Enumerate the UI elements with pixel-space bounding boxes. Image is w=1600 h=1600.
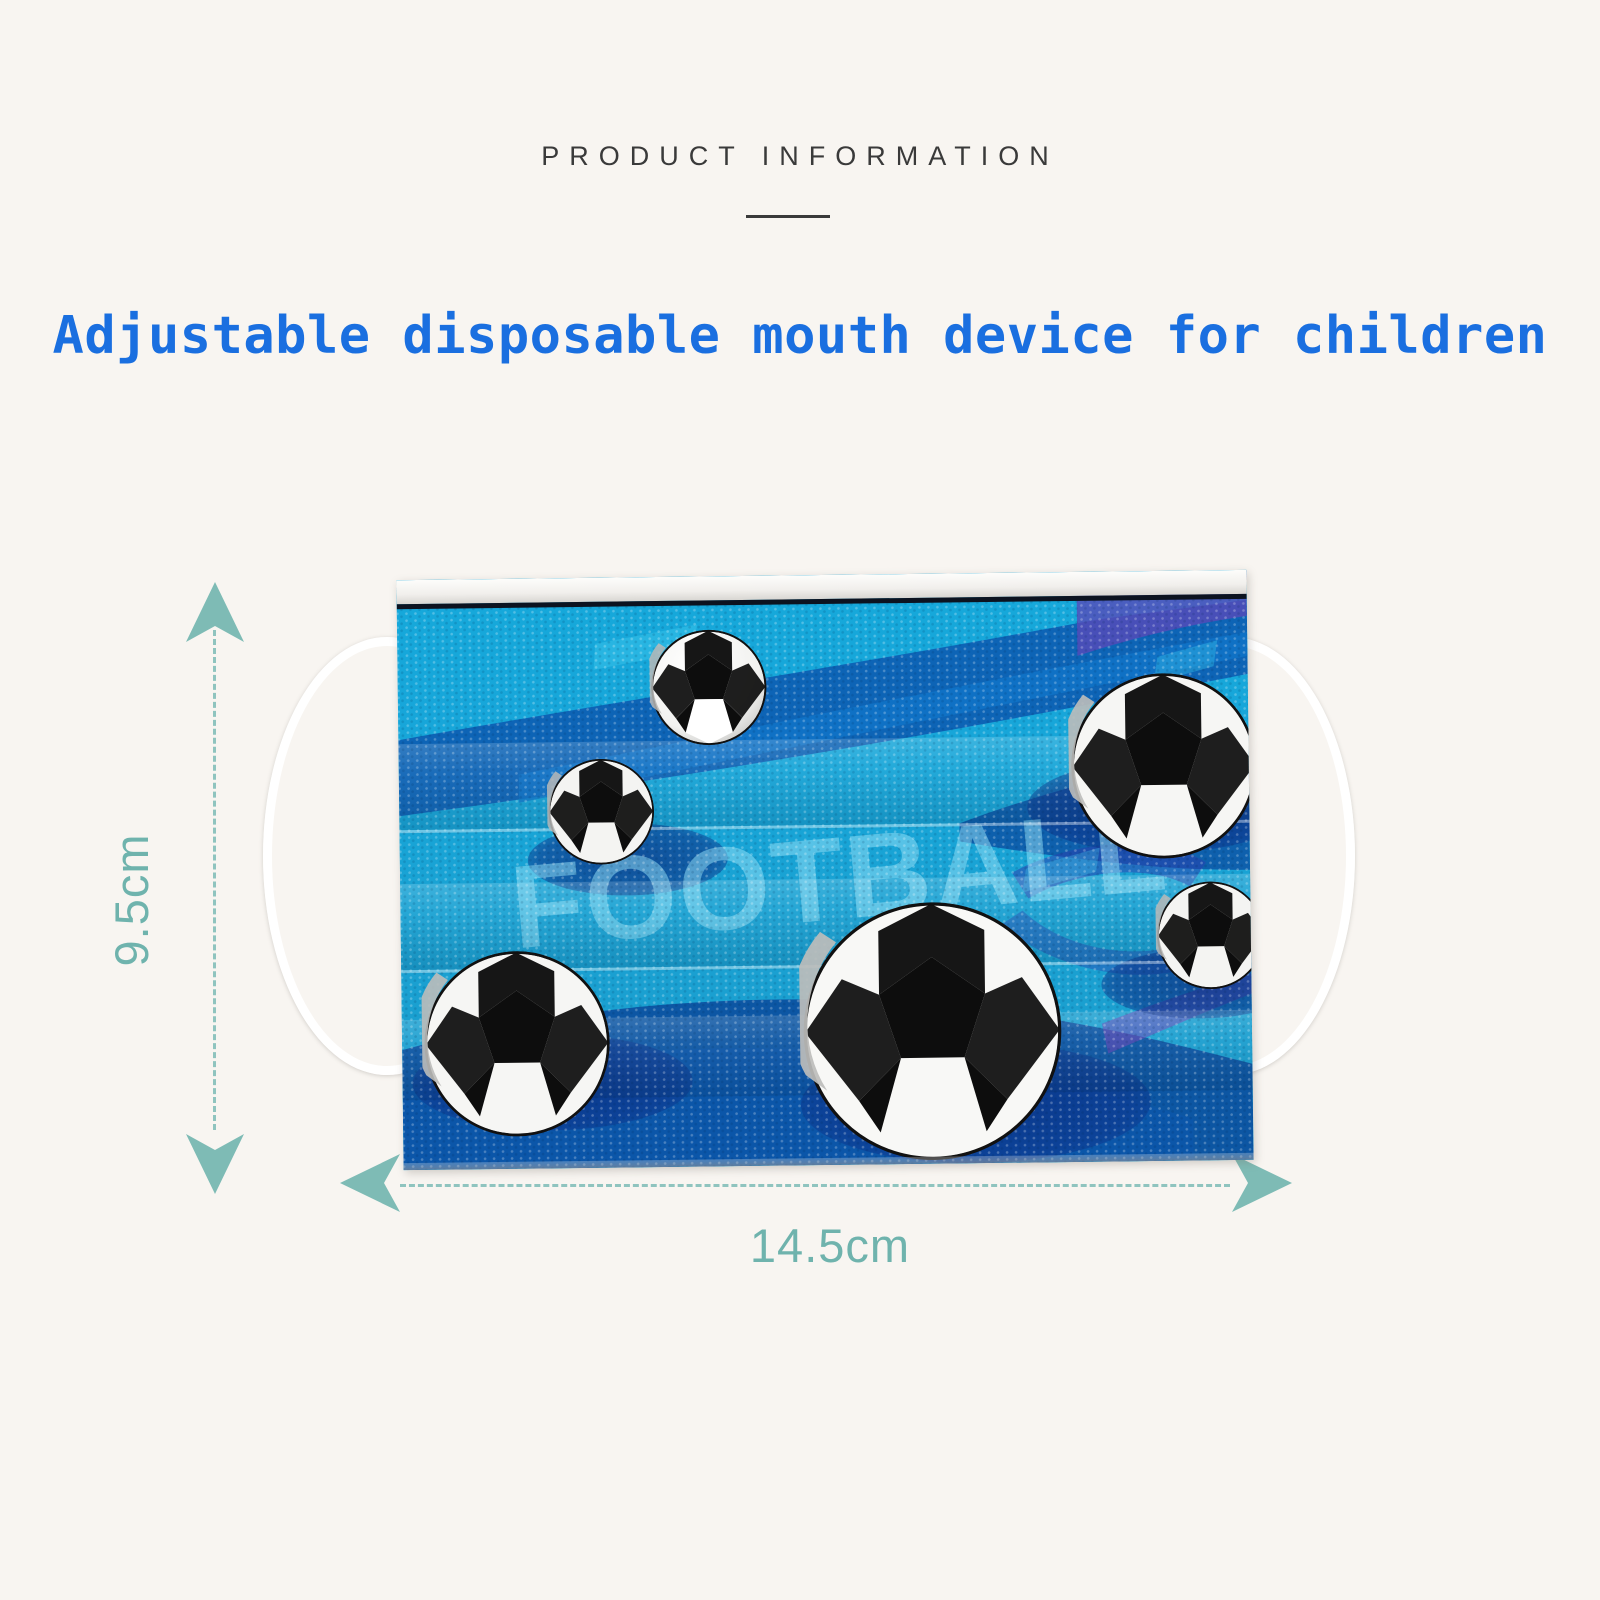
mask-body: FOOTBALL [396,570,1253,1170]
page-title: Adjustable disposable mouth device for c… [0,306,1600,366]
soccer-ball [421,948,613,1140]
product-image: FOOTBALL [255,565,1345,1185]
soccer-ball [1068,670,1254,862]
soccer-ball [798,897,1066,1165]
section-eyebrow: PRODUCT INFORMATION [0,141,1600,172]
width-dimension-label: 14.5cm [620,1218,1040,1273]
soccer-ball [547,757,656,866]
soccer-ball [649,628,768,747]
height-dimension-label: 9.5cm [104,800,159,1000]
soccer-ball [1155,880,1253,991]
height-dimension-line [213,630,216,1130]
eyebrow-divider [746,215,830,218]
